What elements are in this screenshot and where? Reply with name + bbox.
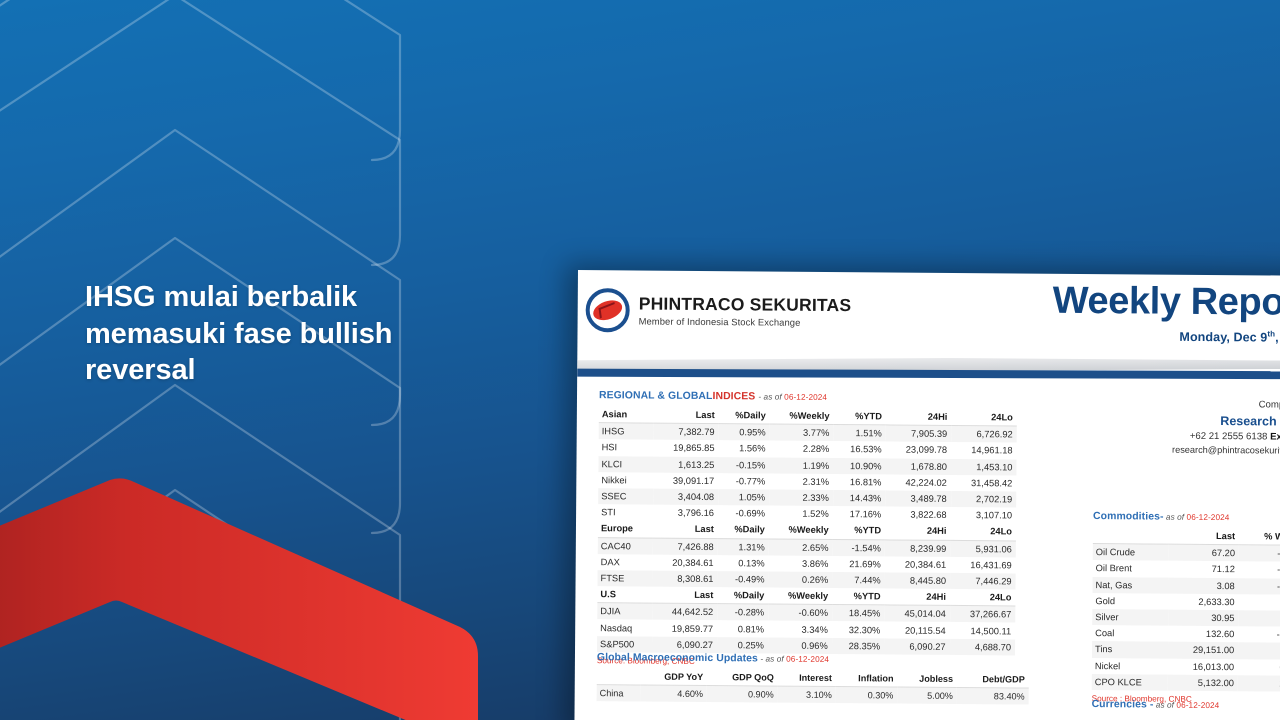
table-cell: 2.65%: [769, 539, 833, 556]
table-cell: 8,239.99: [885, 539, 951, 556]
indices-heading: REGIONAL & GLOBALINDICES - as of 06-12-2…: [599, 390, 1017, 404]
table-cell: 5,931.06: [950, 540, 1016, 557]
table-row: Oil Crude67.20-2.08%: [1093, 544, 1280, 562]
table-cell: 5,132.00: [1168, 674, 1238, 691]
macro-section: Global Macroeconomic Updates - as of 06-…: [597, 652, 1029, 705]
table-cell: 7.44%: [832, 572, 885, 589]
table-cell: 29,151.00: [1168, 642, 1238, 659]
table-cell: 3.40%: [1238, 643, 1280, 660]
header-divider-band: [577, 355, 1280, 383]
table-cell: 1.05%: [718, 489, 769, 506]
table-cell: 132.60: [1169, 626, 1239, 643]
table-cell: 1,613.25: [653, 456, 719, 473]
table-cell: 1.19%: [769, 457, 833, 474]
table-cell: 71.12: [1169, 561, 1239, 578]
table-cell: Nikkei: [598, 472, 653, 489]
table-header-row: Last% Weekly: [1093, 527, 1280, 545]
column-header: %Weekly: [768, 588, 832, 605]
column-header: GDP YoY: [640, 669, 707, 686]
table-cell: 1.56%: [718, 440, 769, 457]
column-header: Europe: [598, 520, 653, 537]
brand-name: PHINTRACO SEKURITAS: [639, 295, 852, 315]
column-header: [1093, 527, 1170, 544]
column-header: 24Lo: [951, 409, 1017, 426]
table-cell: 4.60%: [640, 685, 707, 702]
table-cell: 7,446.29: [950, 573, 1016, 590]
column-header: Last: [652, 521, 718, 538]
table-cell: 42,224.02: [885, 474, 951, 491]
table-cell: CPO KLCE: [1092, 674, 1169, 691]
table-cell: 0.92%: [1239, 594, 1280, 611]
table-cell: -7.78%: [1239, 578, 1280, 595]
page-title: IHSG mulai berbalik memasuki fase bullis…: [85, 279, 485, 389]
table-cell: DJIA: [597, 603, 652, 620]
table-row: China4.60%0.90%3.10%0.30%5.00%83.40%: [597, 685, 1029, 705]
table-cell: 6,090.27: [651, 636, 717, 653]
table-cell: 14,961.18: [951, 442, 1017, 459]
report-title: Weekly Report: [1053, 282, 1280, 323]
table-cell: DAX: [598, 554, 653, 571]
table-cell: 16,431.69: [950, 557, 1016, 574]
table-cell: 3,107.10: [951, 507, 1017, 524]
table-cell: 2.33%: [769, 489, 833, 506]
table-cell: Nasdaq: [597, 620, 652, 637]
commodities-section: Commodities- as of 06-12-2024 Last% Week…: [1092, 511, 1280, 705]
compiled-by-label: Compiled by: [1172, 398, 1280, 413]
table-cell: 8,445.80: [885, 572, 951, 589]
table-cell: 20,115.54: [884, 622, 950, 639]
column-header: Asian: [599, 406, 654, 423]
table-row: Nat, Gas3.08-7.78%: [1092, 577, 1280, 595]
table-cell: -2.08%: [1239, 545, 1280, 562]
table-cell: 23,099.78: [886, 442, 952, 459]
column-header: %YTD: [834, 408, 887, 425]
table-cell: 0.25%: [717, 637, 768, 654]
table-cell: FTSE: [598, 570, 653, 587]
table-cell: China: [597, 685, 641, 702]
table-cell: 1.51%: [833, 425, 886, 442]
column-header: Interest: [778, 670, 836, 687]
table-cell: 83.40%: [957, 688, 1029, 705]
column-header: 24Hi: [886, 408, 952, 425]
table-cell: 20,384.61: [885, 556, 951, 573]
table-row: Oil Brent71.12-1.74%: [1093, 560, 1280, 578]
table-cell: CAC40: [598, 537, 653, 554]
table-cell: Nickel: [1092, 658, 1169, 675]
currencies-heading: Currencies - as of 06-12-2024: [1092, 699, 1280, 712]
macro-heading: Global Macroeconomic Updates - as of 06-…: [597, 652, 1029, 666]
column-header: Last: [653, 407, 719, 424]
compiled-by-team: Research Team: [1172, 412, 1280, 431]
table-cell: 7,426.88: [652, 538, 718, 555]
compiled-by-phone: +62 21 2555 6138 Ext, 8304: [1172, 430, 1280, 445]
table-cell: 3.34%: [768, 621, 832, 638]
macro-table: GDP YoYGDP QoQInterestInflationJoblessDe…: [597, 668, 1029, 705]
table-cell: 1,678.80: [886, 458, 952, 475]
table-cell: 2.28%: [769, 441, 833, 458]
column-header: GDP QoQ: [707, 669, 778, 686]
column-header: %YTD: [832, 588, 885, 605]
column-header: Last: [1169, 528, 1239, 545]
table-cell: 0.81%: [717, 621, 768, 638]
table-cell: S&P500: [597, 636, 652, 653]
report-title-block: Weekly Report Monday, Dec 9th, 2024: [1052, 282, 1280, 345]
table-cell: 2.31%: [769, 473, 833, 490]
table-cell: SSEC: [598, 488, 653, 505]
table-cell: 0.02%: [1238, 659, 1280, 676]
red-chevron-accent: [0, 452, 480, 720]
report-date: Monday, Dec 9th, 2024: [1052, 327, 1280, 344]
table-cell: 14.43%: [833, 490, 886, 507]
column-header: [597, 668, 641, 685]
table-cell: 28.35%: [832, 638, 885, 655]
table-cell: 3,489.78: [885, 490, 951, 507]
table-cell: 4,688.70: [950, 639, 1016, 656]
table-cell: Nat, Gas: [1092, 577, 1169, 594]
table-cell: Silver: [1092, 609, 1169, 626]
column-header: %Daily: [718, 521, 769, 538]
table-row: CPO KLCE5,132.002.17%: [1092, 674, 1280, 692]
column-header: 24Lo: [950, 589, 1016, 606]
table-cell: 3,822.68: [885, 507, 951, 524]
table-row: Coal132.60-4.91%: [1092, 625, 1280, 643]
table-cell: STI: [598, 504, 653, 521]
column-header: Inflation: [836, 670, 898, 687]
table-cell: 39,091.17: [653, 472, 719, 489]
table-cell: 6,726.92: [951, 426, 1017, 443]
table-cell: Coal: [1092, 625, 1169, 642]
table-cell: 0.95%: [719, 424, 770, 441]
table-cell: 20,384.61: [652, 554, 718, 571]
table-cell: 3.77%: [770, 424, 834, 441]
phintraco-logo-icon: [586, 288, 630, 332]
table-cell: 2,702.19: [951, 491, 1017, 508]
compiled-by-email: research@phintracosekuritas.com: [1172, 444, 1280, 458]
column-header: 24Lo: [950, 523, 1016, 540]
table-cell: 7,905.39: [886, 425, 952, 442]
column-header: %Daily: [717, 587, 768, 604]
column-header: %Weekly: [770, 408, 834, 425]
column-header: Jobless: [897, 671, 957, 688]
column-header: U.S: [597, 586, 652, 603]
table-cell: 31,458.42: [951, 475, 1017, 492]
column-header: Debt/GDP: [957, 671, 1029, 688]
currencies-section: Currencies - as of 06-12-2024: [1092, 699, 1280, 712]
table-cell: 3.08: [1169, 577, 1239, 594]
table-cell: -1.74%: [1239, 562, 1280, 579]
weekly-report-document[interactable]: PHINTRACO SEKURITAS Member of Indonesia …: [574, 270, 1280, 720]
table-cell: -1.54%: [832, 539, 885, 556]
table-cell: 0.26%: [768, 571, 832, 588]
column-header: %Daily: [719, 407, 770, 424]
table-cell: 16.53%: [833, 441, 886, 458]
table-cell: 3,404.08: [653, 489, 719, 506]
table-cell: 6,090.27: [884, 638, 950, 655]
table-row: Nickel16,013.000.02%: [1092, 658, 1280, 676]
table-cell: 0.30%: [836, 687, 898, 704]
table-cell: 16.81%: [833, 474, 886, 491]
column-header: 24Hi: [885, 588, 951, 605]
table-cell: Gold: [1092, 593, 1169, 610]
table-cell: 21.69%: [832, 556, 885, 573]
slide-canvas: IHSG mulai berbalik memasuki fase bullis…: [0, 0, 1280, 720]
column-header: %Weekly: [769, 522, 833, 539]
table-cell: Tins: [1092, 641, 1169, 658]
table-cell: 3,796.16: [653, 505, 719, 522]
table-cell: 14,500.11: [950, 622, 1016, 639]
table-cell: Oil Brent: [1093, 560, 1170, 577]
column-header: 24Hi: [885, 523, 951, 540]
table-row: Gold2,633.300.92%: [1092, 593, 1280, 611]
commodities-table: Last% WeeklyOil Crude67.20-2.08%Oil Bren…: [1092, 527, 1280, 692]
indices-table: AsianLast%Daily%Weekly%YTD24Hi24LoIHSG7,…: [597, 406, 1017, 655]
table-cell: HSI: [599, 440, 654, 457]
table-cell: 19,865.85: [653, 440, 719, 457]
table-row: Tins29,151.003.40%: [1092, 641, 1280, 659]
table-cell: -0.60%: [768, 604, 832, 621]
table-cell: 1.11%: [1238, 610, 1280, 627]
table-cell: 5.00%: [897, 687, 957, 704]
table-cell: KLCI: [598, 456, 653, 473]
commodities-heading: Commodities- as of 06-12-2024: [1093, 511, 1280, 524]
table-cell: 37,266.67: [950, 606, 1016, 623]
table-cell: 44,642.52: [652, 603, 718, 620]
table-cell: -0.28%: [717, 604, 768, 621]
table-cell: -0.77%: [718, 473, 769, 490]
table-cell: 19,859.77: [652, 620, 718, 637]
table-cell: 10.90%: [833, 458, 886, 475]
table-cell: -4.91%: [1238, 626, 1280, 643]
table-cell: 1.31%: [718, 538, 769, 555]
brand-tagline: Member of Indonesia Stock Exchange: [639, 315, 852, 328]
table-cell: 16,013.00: [1168, 658, 1238, 675]
table-cell: 30.95: [1169, 610, 1239, 627]
table-cell: 8,308.61: [652, 570, 718, 587]
table-cell: 1.52%: [769, 506, 833, 523]
table-cell: 45,014.04: [884, 605, 950, 622]
table-cell: 0.90%: [707, 686, 778, 703]
table-cell: 67.20: [1169, 544, 1239, 561]
table-cell: 0.96%: [768, 637, 832, 654]
table-cell: 0.13%: [718, 555, 769, 572]
table-cell: Oil Crude: [1093, 544, 1170, 561]
column-header: Last: [652, 587, 718, 604]
table-cell: 3.10%: [778, 686, 836, 703]
table-cell: -0.15%: [718, 457, 769, 474]
table-cell: 1,453.10: [951, 458, 1017, 475]
table-cell: 7,382.79: [653, 423, 719, 440]
table-cell: IHSG: [599, 423, 654, 440]
table-cell: 2,633.30: [1169, 593, 1239, 610]
table-cell: -0.69%: [718, 505, 769, 522]
table-cell: 18.45%: [832, 605, 885, 622]
brand-logo-block: PHINTRACO SEKURITAS Member of Indonesia …: [586, 288, 852, 334]
table-cell: 32.30%: [832, 621, 885, 638]
column-header: % Weekly: [1239, 528, 1280, 545]
table-cell: -0.49%: [717, 571, 768, 588]
table-row: Silver30.951.11%: [1092, 609, 1280, 627]
table-cell: 17.16%: [833, 506, 886, 523]
indices-section: REGIONAL & GLOBALINDICES - as of 06-12-2…: [597, 390, 1017, 668]
table-cell: 2.17%: [1238, 675, 1280, 692]
compiled-by-block: Compiled by Research Team +62 21 2555 61…: [1172, 398, 1280, 458]
column-header: %YTD: [833, 522, 886, 539]
table-cell: 3.86%: [769, 555, 833, 572]
